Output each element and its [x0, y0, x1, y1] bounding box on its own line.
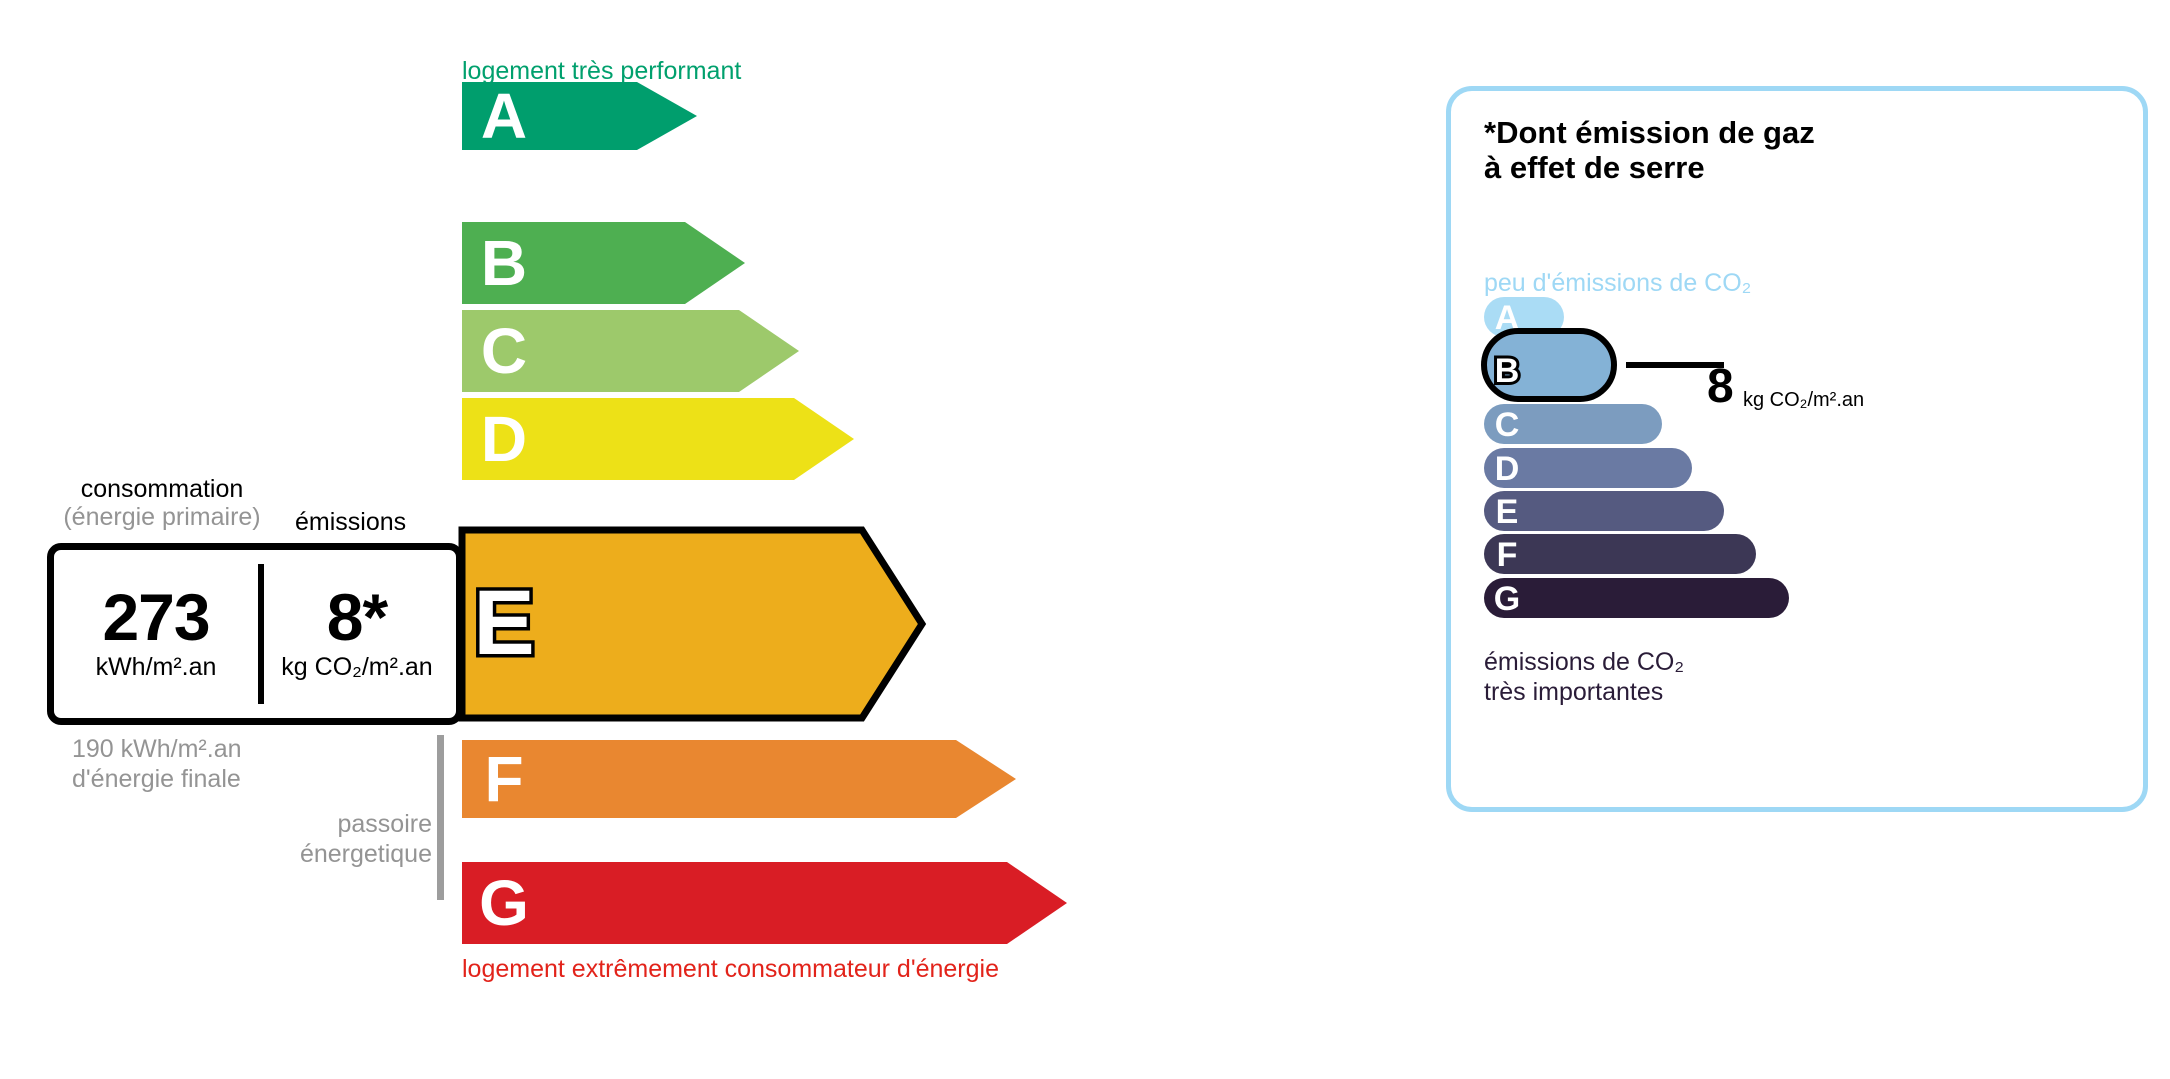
label-energie-finale-line1: 190 kWh/m².an: [72, 735, 242, 763]
co2-bar-g: [1484, 578, 1789, 618]
energy-band-letter-b: B: [481, 227, 527, 299]
energy-band-letter-f: F: [484, 743, 523, 815]
energy-band-f: [462, 740, 1016, 818]
consumption-unit: kWh/m².an: [96, 653, 217, 682]
energy-band-g: [462, 862, 1067, 944]
emission-value: 8*: [327, 586, 387, 649]
energy-bands-svg: ABCDEFG: [0, 0, 1330, 1079]
co2-bar-letter-g: G: [1494, 580, 1520, 618]
co2-bottom-caption-line2: très importantes: [1484, 678, 1663, 706]
label-energie-primaire: (énergie primaire): [47, 503, 277, 531]
label-passoire-line1: passoire: [338, 810, 433, 838]
energy-performance-chart: logement très performant ABCDEFG logemen…: [0, 0, 1330, 1079]
label-consommation-main: consommation: [81, 475, 244, 503]
label-energie-finale-line2: d'énergie finale: [72, 765, 241, 793]
values-box: 273 kWh/m².an 8* kg CO₂/m².an: [47, 543, 463, 725]
emission-value-cell: 8* kg CO₂/m².an: [258, 550, 456, 718]
co2-bar-letter-d: D: [1495, 450, 1520, 488]
co2-callout-value: 8: [1707, 363, 1734, 411]
co2-bar-f: [1484, 534, 1756, 574]
energy-bottom-caption: logement extrêmement consommateur d'éner…: [462, 955, 999, 984]
label-passoire-energetique: passoire énergetique: [200, 810, 432, 869]
passoire-divider-rule: [437, 735, 444, 900]
label-emissions: émissions: [295, 508, 406, 537]
co2-bar-letter-f: F: [1497, 536, 1518, 574]
co2-bar-e: [1484, 491, 1724, 531]
consumption-value: 273: [102, 586, 209, 649]
consumption-value-cell: 273 kWh/m².an: [54, 550, 258, 718]
co2-bottom-caption-line1: émissions de CO₂: [1484, 648, 1684, 676]
co2-bar-letter-c: C: [1495, 406, 1520, 444]
co2-callout-unit: kg CO₂/m².an: [1743, 389, 1864, 412]
co2-bar-letter-e: E: [1496, 493, 1519, 531]
energy-band-letter-d: D: [481, 403, 527, 475]
co2-emissions-panel: *Dont émission de gaz à effet de serre p…: [1446, 86, 2148, 812]
co2-bar-letter-b: B: [1495, 352, 1520, 390]
label-passoire-line2: énergetique: [300, 840, 432, 868]
energy-band-letter-g: G: [479, 867, 529, 939]
label-energie-finale: 190 kWh/m².an d'énergie finale: [72, 735, 242, 794]
emission-unit: kg CO₂/m².an: [281, 653, 432, 682]
label-consommation: consommation (énergie primaire): [47, 475, 277, 531]
energy-band-letter-a: A: [481, 80, 527, 152]
energy-band-letter-c: C: [481, 315, 527, 387]
co2-bottom-caption: émissions de CO₂ très importantes: [1484, 647, 1684, 707]
energy-band-letter-e: E: [473, 572, 534, 674]
